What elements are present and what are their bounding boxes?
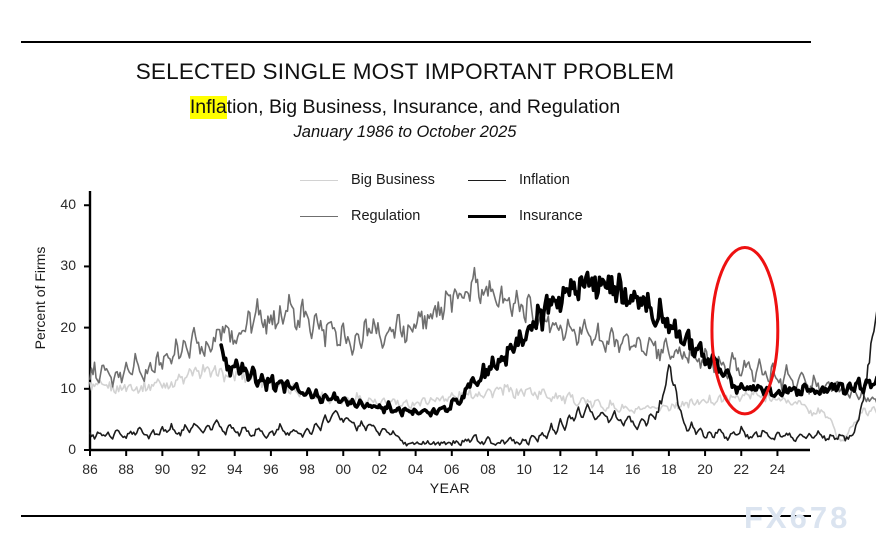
y-tick-label: 0: [42, 441, 76, 457]
x-tick-label: 24: [760, 461, 794, 477]
x-tick-label: 90: [145, 461, 179, 477]
x-tick-label: 18: [652, 461, 686, 477]
x-tick-label: 22: [724, 461, 758, 477]
y-tick-label: 10: [42, 380, 76, 396]
x-tick-label: 08: [471, 461, 505, 477]
x-tick-label: 96: [254, 461, 288, 477]
watermark: FX678: [744, 500, 850, 536]
x-tick-label: 12: [543, 461, 577, 477]
x-tick-label: 92: [182, 461, 216, 477]
x-tick-label: 98: [290, 461, 324, 477]
x-tick-label: 00: [326, 461, 360, 477]
x-tick-label: 10: [507, 461, 541, 477]
y-tick-label: 40: [42, 196, 76, 212]
x-tick-label: 06: [435, 461, 469, 477]
y-axis-title: Percent of Firms: [32, 218, 48, 378]
x-tick-label: 86: [73, 461, 107, 477]
x-tick-label: 02: [362, 461, 396, 477]
y-tick-label: 30: [42, 257, 76, 273]
x-tick-label: 20: [688, 461, 722, 477]
chart-plot-area: Percent of Firms YEAR 010203040868890929…: [0, 0, 876, 556]
series-line-inflation: [90, 233, 876, 445]
x-tick-label: 14: [580, 461, 614, 477]
x-tick-label: 94: [218, 461, 252, 477]
chart-page: SELECTED SINGLE MOST IMPORTANT PROBLEM I…: [0, 0, 876, 556]
x-tick-label: 04: [399, 461, 433, 477]
x-tick-label: 16: [616, 461, 650, 477]
x-tick-label: 88: [109, 461, 143, 477]
series-line-regulation: [90, 268, 876, 422]
x-axis-title: YEAR: [90, 480, 810, 496]
y-tick-label: 20: [42, 319, 76, 335]
